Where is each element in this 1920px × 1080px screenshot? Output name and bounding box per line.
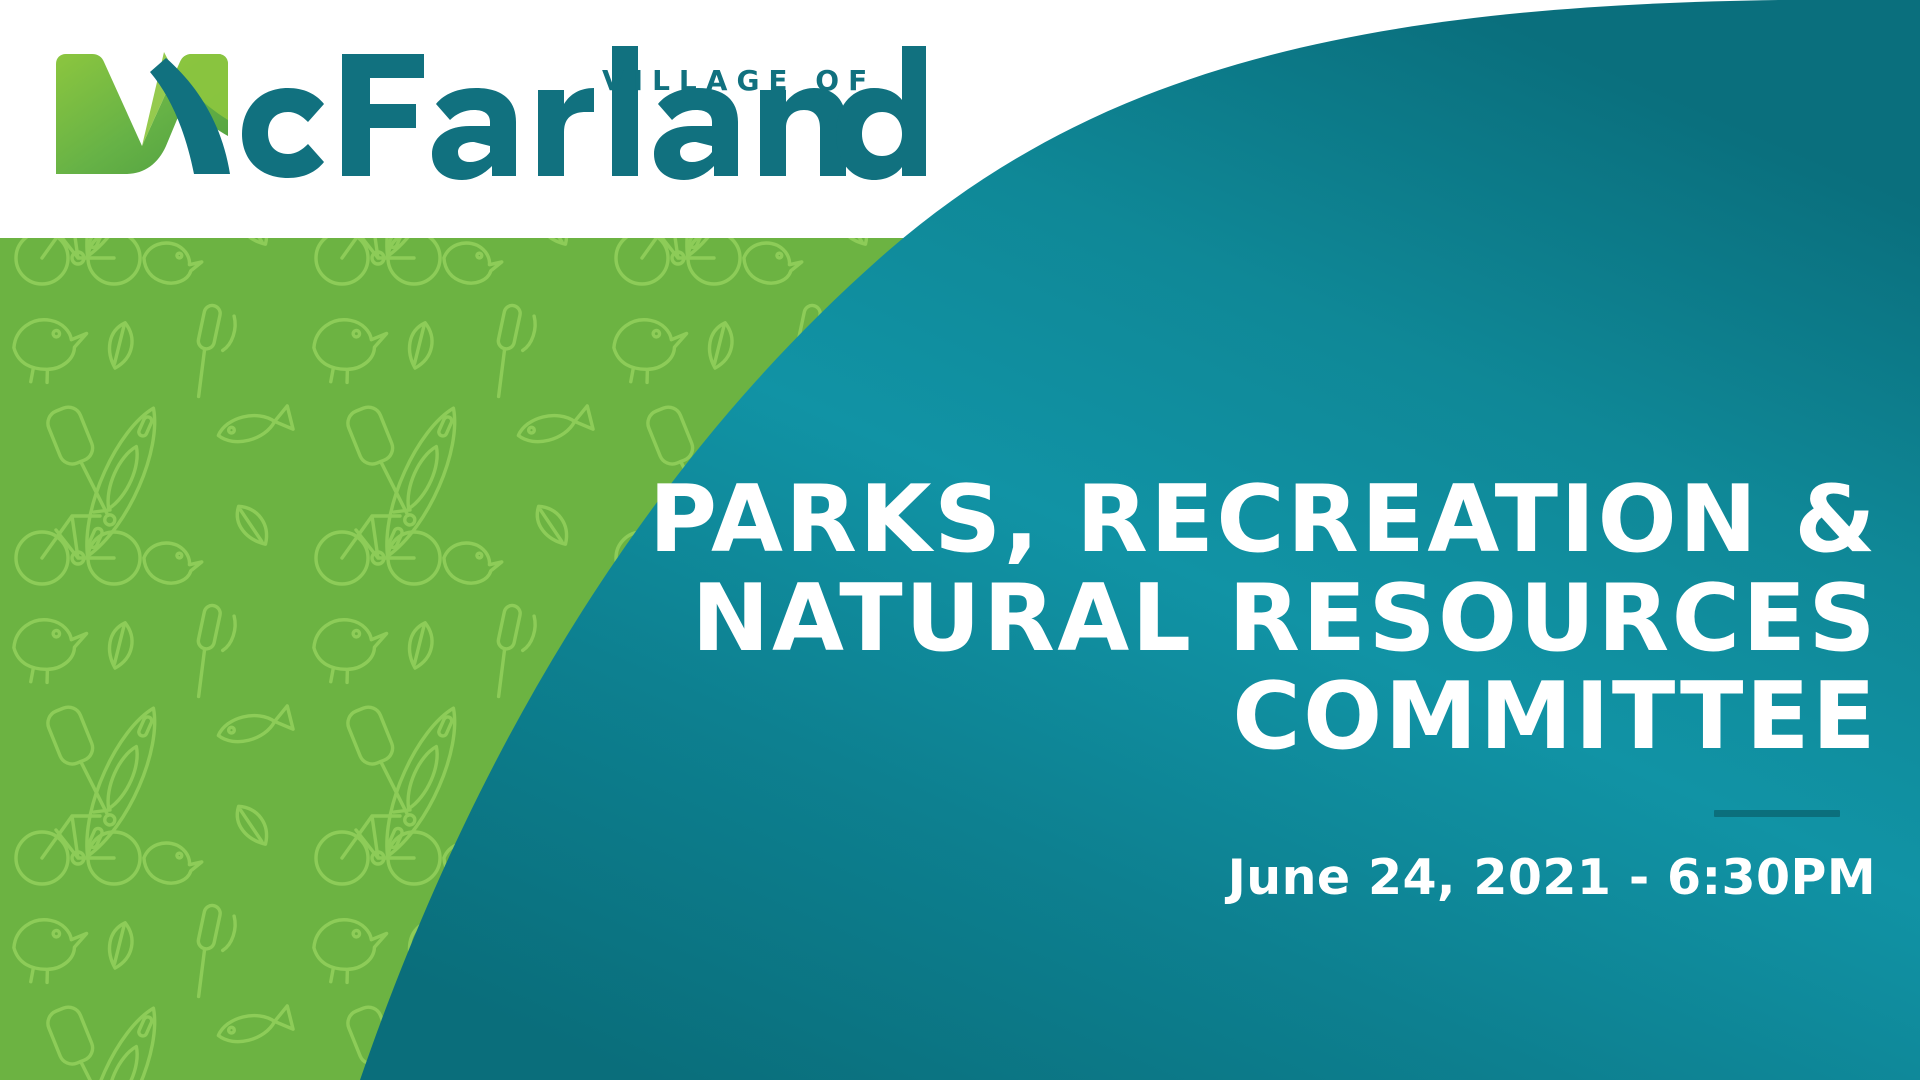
slide-content: PARKS, RECREATION & NATURAL RESOURCES CO… [598,470,1878,906]
title-divider [1714,810,1840,817]
page-title: PARKS, RECREATION & NATURAL RESOURCES CO… [598,470,1878,766]
logo-artwork: VILLAGE OF [46,28,926,188]
divider-row [598,810,1878,817]
title-slide: VILLAGE OF PARKS, RECREATION & NATURAL R… [0,0,1920,1080]
meeting-datetime: June 24, 2021 - 6:30PM [598,817,1878,906]
village-of-mcfarland-logo: VILLAGE OF [46,28,926,188]
logo-eyebrow-text: VILLAGE OF [602,64,876,97]
